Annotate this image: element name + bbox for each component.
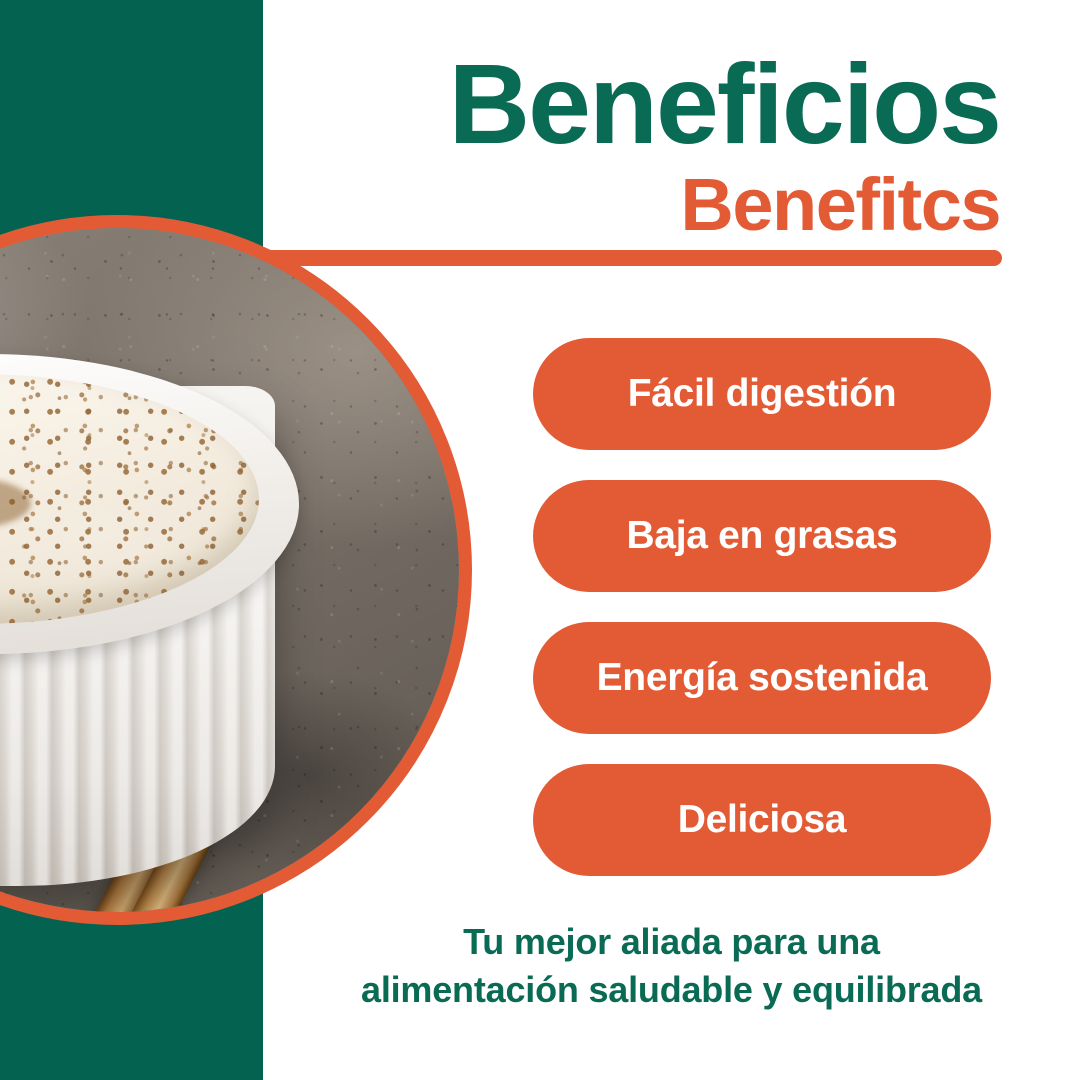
rice-pudding-surface (0, 374, 259, 624)
rice-pudding-photo-circle (0, 215, 472, 925)
tagline-line-2: alimentación saludable y equilibrada (263, 966, 1080, 1014)
tagline: Tu mejor aliada para una alimentación sa… (263, 918, 1080, 1013)
page-title-english: Benefitcs (680, 168, 1000, 242)
cinnamon-dust-speckles (0, 374, 259, 624)
benefit-pill-low-fat[interactable]: Baja en grasas (533, 480, 991, 592)
benefits-poster: Beneficios Benefitcs Fácil digestión Baj… (0, 0, 1080, 1080)
tagline-line-1: Tu mejor aliada para una (263, 918, 1080, 966)
photo-clip (0, 228, 459, 912)
benefit-pill-sustained-energy[interactable]: Energía sostenida (533, 622, 991, 734)
page-title-spanish: Beneficios (449, 48, 1000, 161)
benefits-list: Fácil digestión Baja en grasas Energía s… (533, 338, 991, 876)
benefit-pill-easy-digestion[interactable]: Fácil digestión (533, 338, 991, 450)
benefit-pill-delicious[interactable]: Deliciosa (533, 764, 991, 876)
